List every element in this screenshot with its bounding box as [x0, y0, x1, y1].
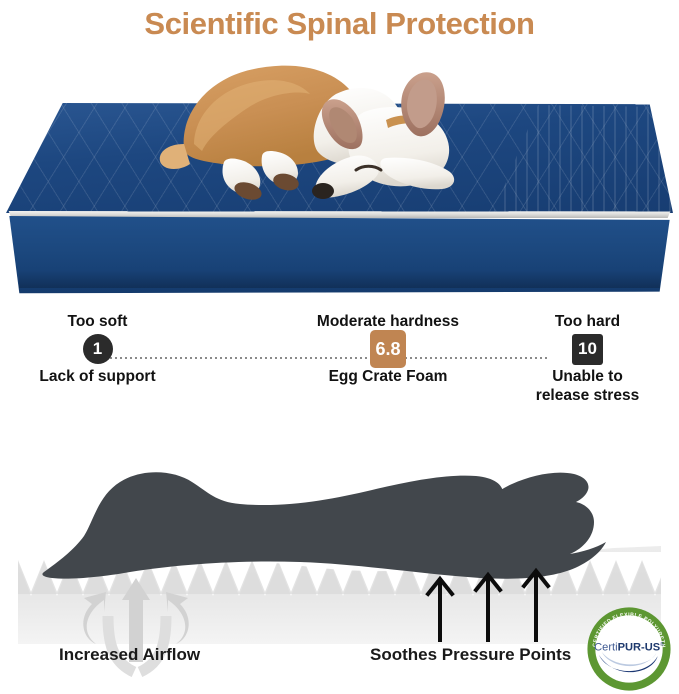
infographic-page: Scientific Spinal Protection	[0, 0, 679, 694]
scale-marker-hard-row: 10	[500, 331, 675, 367]
scale-column-too-soft: Too soft 1 Lack of support	[5, 312, 190, 386]
scale-marker-moderate-row: 6.8	[288, 331, 488, 367]
dog-silhouette	[42, 472, 606, 578]
bed-quilt-waves	[493, 105, 673, 213]
scale-column-too-hard: Too hard 10 Unable to release stress	[500, 312, 675, 405]
scale-badge-10: 10	[572, 334, 603, 365]
hardness-scale: Too soft 1 Lack of support Moderate hard…	[0, 312, 679, 422]
page-title: Scientific Spinal Protection	[0, 0, 679, 48]
scale-top-label-soft: Too soft	[5, 312, 190, 331]
scale-badge-6-8: 6.8	[370, 330, 406, 368]
scale-marker-soft-row: 1	[5, 331, 190, 367]
scale-bottom-label-soft: Lack of support	[5, 367, 190, 386]
scale-bottom-label-hard-line2: release stress	[500, 386, 675, 405]
foam-diagram: Increased Airflow Soothes Pressure Point…	[0, 430, 679, 694]
scale-bottom-label-hard-line1: Unable to	[500, 367, 675, 386]
certipur-wordmark: CertiPUR-US®	[594, 641, 664, 653]
scale-bottom-label-moderate: Egg Crate Foam	[288, 367, 488, 386]
bed-side-panel	[6, 216, 673, 294]
pressure-points-label: Soothes Pressure Points	[370, 645, 571, 665]
airflow-label: Increased Airflow	[59, 645, 200, 665]
scale-top-label-moderate: Moderate hardness	[288, 312, 488, 331]
scale-top-label-hard: Too hard	[500, 312, 675, 331]
product-photo	[0, 48, 679, 300]
scale-column-moderate: Moderate hardness 6.8 Egg Crate Foam	[288, 312, 488, 386]
certipur-us-logo: CONTAINS CERTIFIED FLEXIBLE POLYURETHANE…	[586, 606, 672, 692]
scale-badge-1: 1	[83, 334, 113, 364]
dog-photo-illustration	[150, 52, 510, 212]
